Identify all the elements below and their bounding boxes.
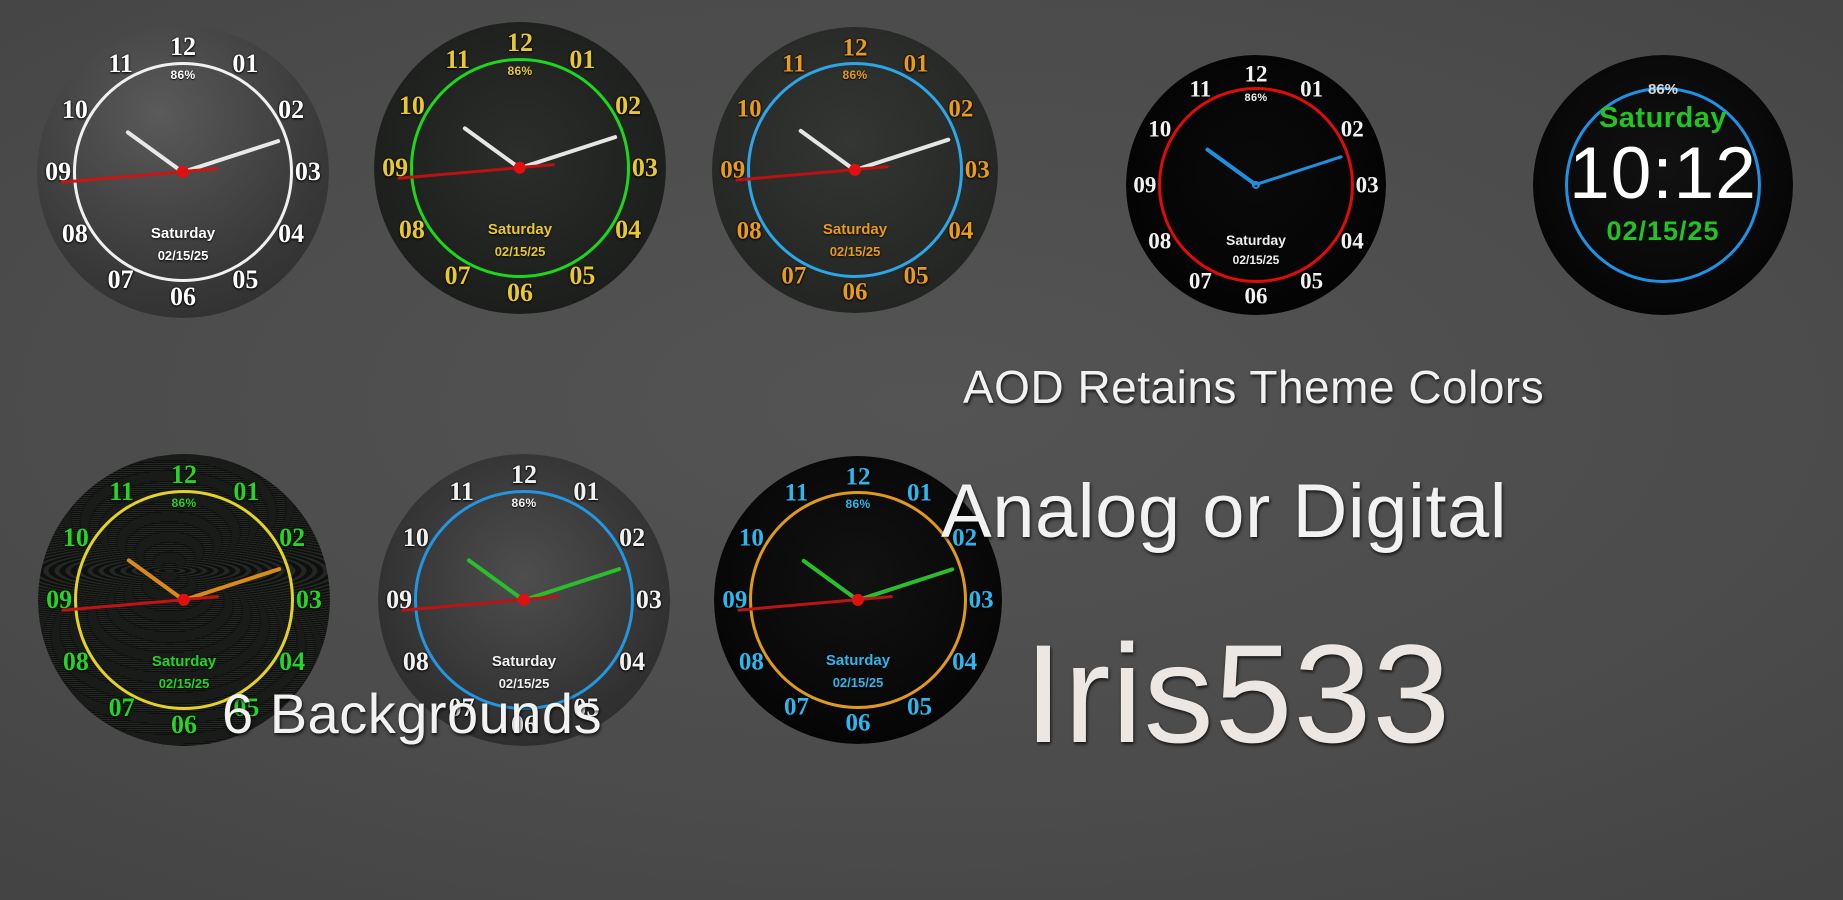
battery-indicator: 86% (508, 64, 533, 78)
hour-numeral: 09 (1133, 174, 1156, 197)
hour-numeral: 10 (1148, 118, 1171, 141)
hour-numeral: 06 (170, 284, 196, 310)
hour-numeral: 12 (1245, 62, 1268, 85)
hour-numeral: 05 (907, 694, 932, 719)
day-of-week: Saturday (488, 221, 552, 238)
watch-face-2[interactable]: 12010203040506070809101186%Saturday02/15… (374, 22, 666, 314)
hour-numeral: 06 (507, 280, 533, 306)
hour-numeral: 11 (108, 51, 133, 77)
hour-numeral: 04 (1341, 229, 1364, 252)
hour-numeral: 05 (1300, 270, 1323, 293)
hour-numeral: 06 (171, 712, 197, 738)
day-of-week: Saturday (1599, 102, 1727, 135)
hour-numeral: 06 (846, 711, 871, 736)
backgrounds-caption: 6 Backgrounds (222, 681, 602, 746)
hour-numeral: 11 (449, 479, 474, 505)
day-of-week: Saturday (826, 652, 890, 669)
hour-numeral: 01 (233, 479, 259, 505)
hour-numeral: 07 (781, 263, 806, 288)
hour-numeral: 05 (569, 263, 595, 289)
hour-numeral: 02 (948, 96, 973, 121)
hour-numeral: 03 (1356, 174, 1379, 197)
hour-numeral: 11 (785, 481, 809, 506)
hour-numeral: 08 (63, 649, 89, 675)
hour-numeral: 06 (843, 280, 868, 305)
hour-numeral: 03 (969, 588, 994, 613)
hour-numeral: 03 (295, 159, 321, 185)
watch-face-3[interactable]: 12010203040506070809101186%Saturday02/15… (712, 27, 998, 313)
hour-numeral: 01 (569, 47, 595, 73)
hour-numeral: 10 (737, 96, 762, 121)
date-display: 02/15/25 (158, 248, 209, 263)
analog-or-digital-caption: Analog or Digital (941, 468, 1507, 555)
hour-numeral: 04 (615, 217, 641, 243)
brand-name: Iris533 (1024, 613, 1451, 775)
hour-numeral: 01 (907, 481, 932, 506)
hands-pivot (1252, 181, 1260, 189)
hour-numeral: 04 (952, 649, 977, 674)
aod-caption: AOD Retains Theme Colors (963, 360, 1544, 414)
hour-numeral: 08 (62, 221, 88, 247)
day-of-week: Saturday (151, 225, 215, 242)
watchface-showcase: 12010203040506070809101186%Saturday02/15… (0, 0, 1843, 900)
battery-indicator: 86% (1245, 92, 1268, 104)
hour-numeral: 03 (636, 587, 662, 613)
hour-numeral: 10 (739, 526, 764, 551)
hour-numeral: 02 (278, 97, 304, 123)
watch-face-5[interactable]: 86%Saturday10:1202/15/25 (1533, 55, 1793, 315)
hour-numeral: 05 (904, 263, 929, 288)
hour-numeral: 12 (507, 30, 533, 56)
battery-indicator: 86% (1648, 81, 1678, 98)
date-display: 02/15/25 (830, 244, 881, 259)
hour-numeral: 10 (403, 525, 429, 551)
hour-numeral: 01 (904, 52, 929, 77)
battery-indicator: 86% (512, 496, 537, 510)
hour-numeral: 07 (1189, 270, 1212, 293)
hour-numeral: 03 (296, 587, 322, 613)
date-display: 02/15/25 (1233, 253, 1280, 267)
hour-numeral: 12 (171, 462, 197, 488)
watch-face-1[interactable]: 12010203040506070809101186%Saturday02/15… (37, 26, 329, 318)
hour-numeral: 03 (632, 155, 658, 181)
hour-numeral: 02 (279, 525, 305, 551)
hour-numeral: 07 (445, 263, 471, 289)
hour-numeral: 04 (278, 221, 304, 247)
day-of-week: Saturday (152, 653, 216, 670)
date-display: 02/15/25 (159, 676, 210, 691)
battery-indicator: 86% (846, 497, 871, 511)
hour-numeral: 08 (1148, 229, 1171, 252)
hour-numeral: 11 (109, 479, 134, 505)
hour-numeral: 03 (965, 158, 990, 183)
hour-numeral: 10 (62, 97, 88, 123)
hour-numeral: 12 (843, 35, 868, 60)
hour-numeral: 07 (108, 267, 134, 293)
hour-numeral: 10 (399, 93, 425, 119)
hour-numeral: 02 (1341, 118, 1364, 141)
digital-date: 02/15/25 (1606, 216, 1719, 247)
hour-numeral: 08 (737, 219, 762, 244)
hour-numeral: 05 (232, 267, 258, 293)
hour-numeral: 10 (63, 525, 89, 551)
hour-numeral: 02 (615, 93, 641, 119)
hour-numeral: 11 (445, 47, 470, 73)
hour-numeral: 08 (399, 217, 425, 243)
battery-indicator: 86% (843, 68, 868, 82)
battery-indicator: 86% (171, 68, 196, 82)
watch-face-4[interactable]: 12010203040506070809101186%Saturday02/15… (1126, 55, 1386, 315)
day-of-week: Saturday (492, 653, 556, 670)
day-of-week: Saturday (823, 221, 887, 238)
date-display: 02/15/25 (833, 675, 884, 690)
hour-numeral: 07 (109, 695, 135, 721)
hour-numeral: 08 (739, 649, 764, 674)
hour-numeral: 12 (170, 34, 196, 60)
hour-numeral: 01 (1300, 77, 1323, 100)
day-of-week: Saturday (1226, 232, 1286, 248)
hour-numeral: 02 (619, 525, 645, 551)
hour-numeral: 11 (1190, 77, 1212, 100)
date-display: 02/15/25 (495, 244, 546, 259)
hour-numeral: 12 (846, 464, 871, 489)
hour-numeral: 08 (403, 649, 429, 675)
battery-indicator: 86% (172, 496, 197, 510)
digital-time: 10:12 (1569, 132, 1757, 215)
hour-numeral: 04 (619, 649, 645, 675)
hour-numeral: 04 (279, 649, 305, 675)
hour-numeral: 01 (232, 51, 258, 77)
hour-numeral: 04 (948, 219, 973, 244)
hour-numeral: 12 (511, 462, 537, 488)
hour-numeral: 07 (784, 694, 809, 719)
hour-numeral: 11 (782, 52, 806, 77)
hour-numeral: 06 (1245, 285, 1268, 308)
hour-numeral: 01 (573, 479, 599, 505)
